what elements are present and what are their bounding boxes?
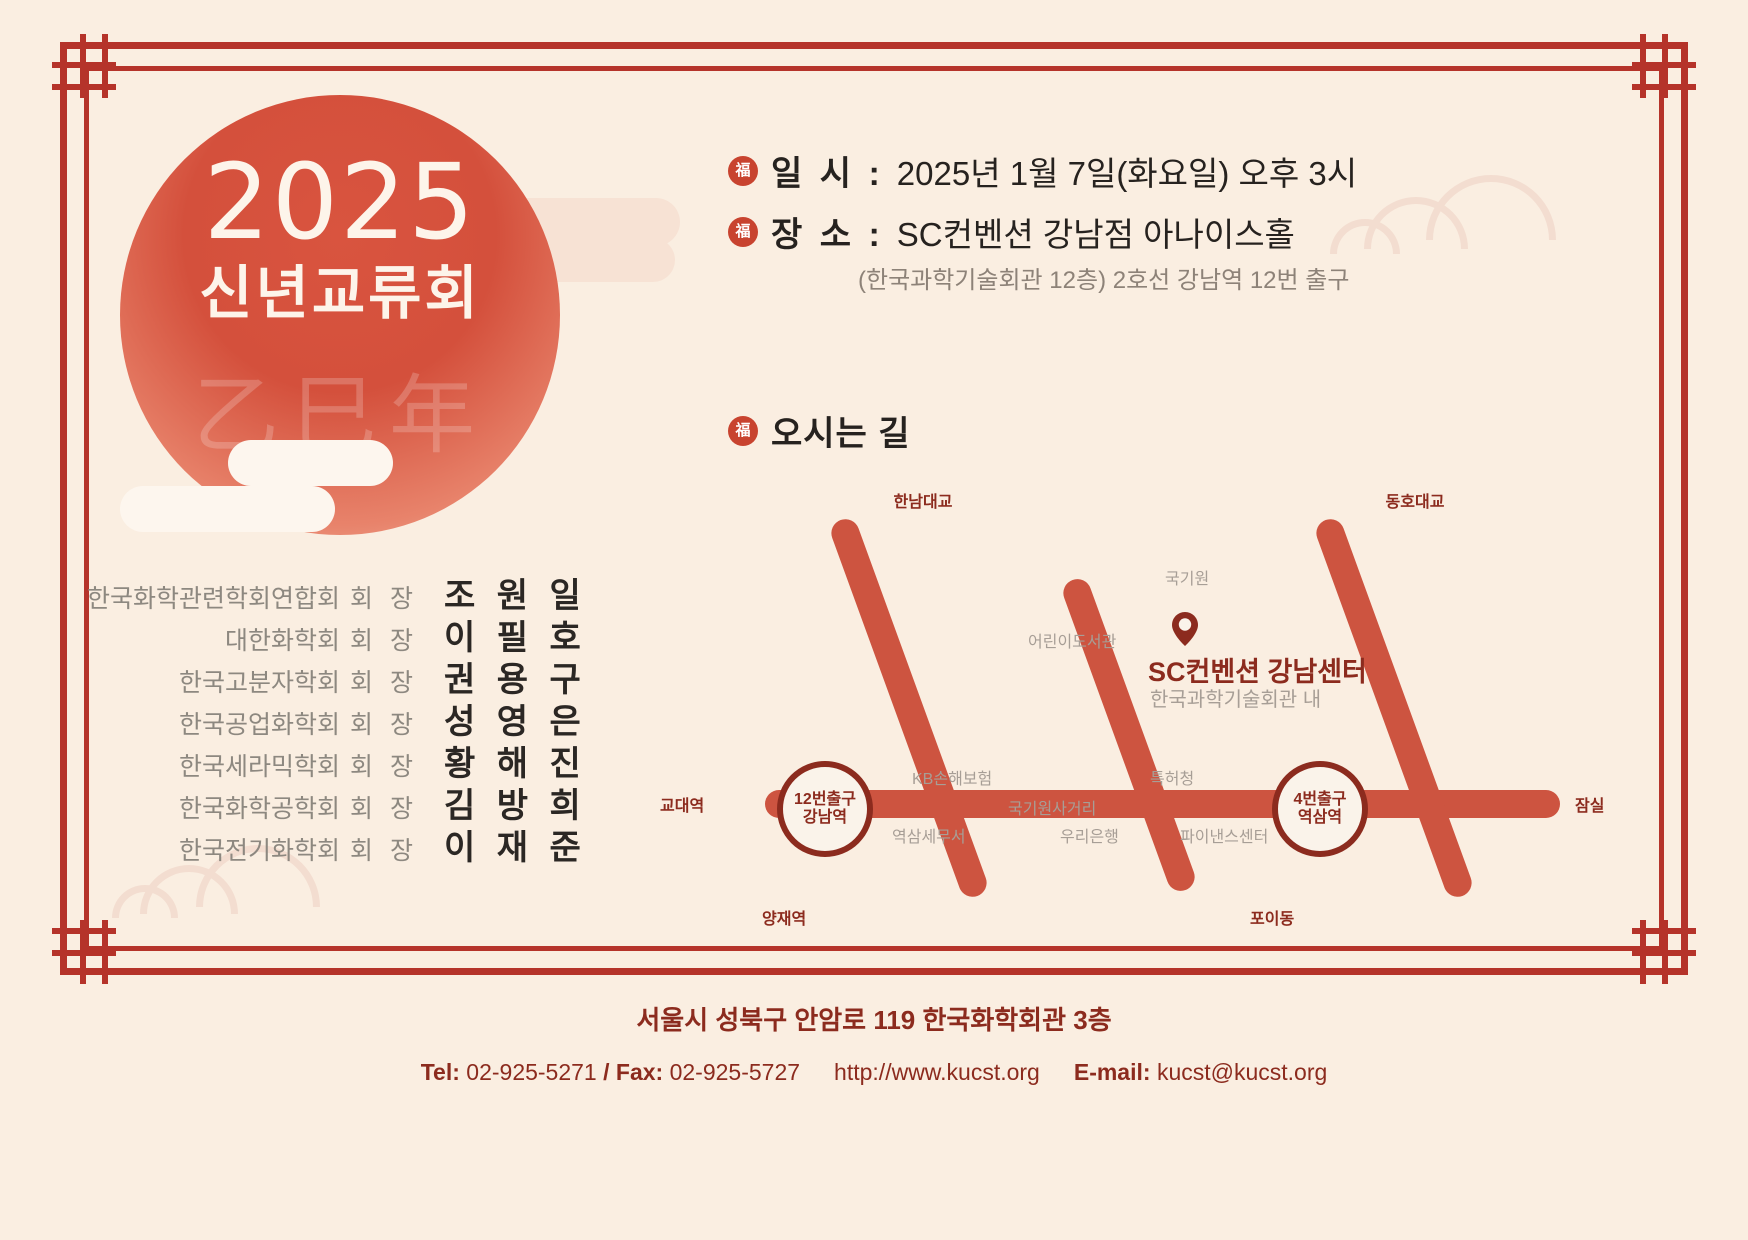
map-label-kb-insurance: KB손해보험 — [912, 765, 992, 789]
officer-title: 회 장 — [350, 831, 418, 867]
map-label-gukgiwon: 국기원 — [1165, 565, 1209, 589]
station-name: 강남역 — [803, 809, 847, 827]
tel-label: Tel: — [421, 1059, 460, 1086]
map-label-poidong: 포이동 — [1250, 905, 1294, 929]
officer-row: 한국전기화학회 회 장 이 재 준 — [110, 820, 580, 862]
station-yeoksam[interactable]: 4번출구 역삼역 — [1272, 761, 1368, 857]
date-label: 일 시 : — [771, 146, 884, 195]
officer-title: 회 장 — [350, 663, 418, 699]
officer-row: 한국고분자학회 회 장 권 용 구 — [110, 652, 580, 694]
officer-title: 회 장 — [350, 579, 418, 615]
officer-org: 대한화학회 — [225, 621, 340, 657]
officer-title: 회 장 — [350, 747, 418, 783]
map-label-gukgiwon-crossroad: 국기원사거리 — [1008, 795, 1096, 819]
map-label-jamsil: 잠실 — [1575, 792, 1604, 816]
officer-row: 한국화학공학회 회 장 김 방 희 — [110, 778, 580, 820]
map-label-donghodaegyo: 동호대교 — [1386, 488, 1445, 512]
fax-label: Fax: — [616, 1059, 663, 1086]
directions-label: 오시는 길 — [771, 406, 911, 455]
email-label: E-mail: — [1074, 1059, 1151, 1086]
officer-row: 한국세라믹학회 회 장 황 해 진 — [110, 736, 580, 778]
email-link[interactable]: kucst@kucst.org — [1157, 1059, 1327, 1086]
contact-separator: / — [603, 1059, 609, 1086]
poster-root: 乙巳年 2025 신년교류회 福 일 시 : 2025년 1월 7일(화요일) … — [0, 0, 1748, 1240]
frame-inner-bottom — [84, 946, 1664, 951]
station-name: 역삼역 — [1298, 809, 1342, 827]
hero-year: 2025 — [120, 150, 560, 254]
corner-ornament-top-right — [1618, 34, 1696, 112]
tel-value: 02-925-5271 — [466, 1059, 596, 1086]
footer: 서울시 성북구 안암로 119 한국화학회관 3층 Tel: 02-925-52… — [0, 1000, 1748, 1086]
officer-title: 회 장 — [350, 789, 418, 825]
footer-address: 서울시 성북구 안암로 119 한국화학회관 3층 — [0, 1000, 1748, 1037]
station-gangnam[interactable]: 12번출구 강남역 — [777, 761, 873, 857]
map-label-gyodaeyeok: 교대역 — [660, 792, 704, 816]
officer-name: 이 재 준 — [444, 820, 580, 869]
officer-title: 회 장 — [350, 621, 418, 657]
cloud-white-2 — [120, 486, 335, 532]
officer-org: 한국전기화학회 — [179, 831, 340, 867]
cloud-decoration-2 — [545, 238, 675, 282]
location-pin-icon — [1172, 612, 1198, 646]
officer-org: 한국화학공학회 — [179, 789, 340, 825]
frame-inner-left — [84, 66, 89, 951]
place-note: (한국과학기술회관 12층) 2호선 강남역 12번 출구 — [858, 260, 1349, 295]
directions-heading: 福 오시는 길 — [728, 406, 911, 455]
officer-row: 대한화학회 회 장 이 필 호 — [110, 610, 580, 652]
place-label: 장 소 : — [771, 207, 884, 256]
hero-title: 신년교류회 — [120, 265, 560, 323]
frame-border-right — [1681, 42, 1688, 975]
frame-border-bottom — [60, 968, 1688, 975]
frame-border-top — [60, 42, 1688, 49]
officer-org: 한국고분자학회 — [179, 663, 340, 699]
map-label-patent-office: 특허청 — [1150, 765, 1194, 789]
date-value: 2025년 1월 7일(화요일) 오후 3시 — [897, 147, 1357, 195]
footer-contact-line: Tel: 02-925-5271 / Fax: 02-925-5727http:… — [0, 1059, 1748, 1086]
map-label-hannamdaegyo: 한남대교 — [894, 488, 953, 512]
map-label-yangjaeyeok: 양재역 — [762, 905, 806, 929]
officer-row: 한국공업화학회 회 장 성 영 은 — [110, 694, 580, 736]
cloud-white-1 — [228, 440, 393, 486]
station-exit: 4번출구 — [1293, 791, 1346, 809]
event-date-row: 福 일 시 : 2025년 1월 7일(화요일) 오후 3시 — [728, 146, 1357, 195]
officer-org: 한국화학관련학회연합회 — [87, 579, 340, 615]
officer-org: 한국세라믹학회 — [179, 747, 340, 783]
map-label-yeoksam-tax-office: 역삼세무서 — [892, 823, 966, 847]
place-value: SC컨벤션 강남점 아나이스홀 — [897, 208, 1295, 256]
map-label-finance-center: 파이낸스센터 — [1180, 823, 1268, 847]
officer-title: 회 장 — [350, 705, 418, 741]
frame-inner-top — [84, 66, 1664, 71]
station-exit: 12번출구 — [794, 791, 856, 809]
fuk-seal-icon: 福 — [728, 156, 758, 186]
corner-ornament-top-left — [52, 34, 130, 112]
frame-border-left — [60, 42, 67, 975]
map-label-woori-bank: 우리은행 — [1060, 823, 1119, 847]
venue-sub: 한국과학기술회관 내 — [1150, 683, 1321, 712]
officer-org: 한국공업화학회 — [179, 705, 340, 741]
event-place-row: 福 장 소 : SC컨벤션 강남점 아나이스홀 — [728, 207, 1295, 256]
fax-value: 02-925-5727 — [670, 1059, 800, 1086]
map-label-children-library: 어린이도서관 — [1028, 628, 1116, 652]
officers-list: 한국화학관련학회연합회 회 장 조 원 일 대한화학회 회 장 이 필 호 한국… — [110, 568, 580, 862]
officer-row: 한국화학관련학회연합회 회 장 조 원 일 — [110, 568, 580, 610]
fuk-seal-icon: 福 — [728, 416, 758, 446]
fuk-seal-icon: 福 — [728, 217, 758, 247]
website-link[interactable]: http://www.kucst.org — [834, 1059, 1040, 1086]
